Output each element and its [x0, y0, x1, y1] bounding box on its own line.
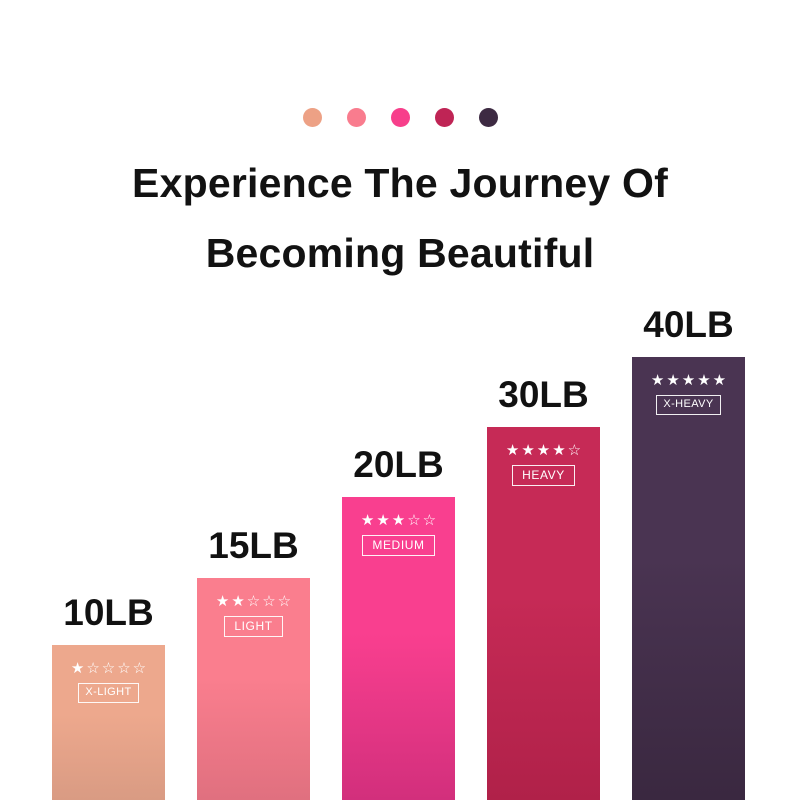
bar-10lb-group[interactable]: 10LB★☆☆☆☆X-LIGHT: [52, 645, 165, 800]
bar-10lb-bar[interactable]: ★☆☆☆☆X-LIGHT: [52, 645, 165, 800]
bar-10lb-content: ★☆☆☆☆X-LIGHT: [52, 661, 165, 703]
star-filled-icon: ★: [506, 443, 519, 458]
bar-15lb-bar[interactable]: ★★☆☆☆LIGHT: [197, 578, 310, 800]
bar-10lb-star-rating: ★☆☆☆☆: [71, 661, 146, 676]
bar-15lb-level-badge: LIGHT: [224, 616, 282, 637]
star-filled-icon: ★: [552, 443, 565, 458]
bar-30lb-content: ★★★★☆HEAVY: [487, 443, 600, 486]
bar-40lb-bar[interactable]: ★★★★★X-HEAVY: [632, 357, 745, 800]
star-empty-icon: ☆: [423, 513, 436, 528]
star-empty-icon: ☆: [133, 661, 146, 676]
star-filled-icon: ★: [682, 373, 695, 388]
bar-40lb-content: ★★★★★X-HEAVY: [632, 373, 745, 415]
bar-10lb-weight-label: 10LB: [63, 594, 153, 645]
star-filled-icon: ★: [392, 513, 405, 528]
product-infographic: Experience The Journey Of Becoming Beaut…: [0, 0, 800, 800]
bar-20lb-level-badge: MEDIUM: [362, 535, 434, 556]
resistance-bar-chart: 10LB★☆☆☆☆X-LIGHT15LB★★☆☆☆LIGHT20LB★★★☆☆M…: [0, 0, 800, 800]
bar-15lb-star-rating: ★★☆☆☆: [216, 594, 291, 609]
bar-40lb-star-rating: ★★★★★: [651, 373, 726, 388]
star-empty-icon: ☆: [247, 594, 260, 609]
star-filled-icon: ★: [231, 594, 244, 609]
bar-30lb-level-badge: HEAVY: [512, 465, 575, 486]
star-filled-icon: ★: [361, 513, 374, 528]
bar-30lb-bar[interactable]: ★★★★☆HEAVY: [487, 427, 600, 800]
star-filled-icon: ★: [537, 443, 550, 458]
star-filled-icon: ★: [376, 513, 389, 528]
star-filled-icon: ★: [651, 373, 664, 388]
bar-30lb-star-rating: ★★★★☆: [506, 443, 581, 458]
bar-40lb-group[interactable]: 40LB★★★★★X-HEAVY: [632, 357, 745, 800]
bar-40lb-level-badge: X-HEAVY: [656, 395, 720, 415]
star-filled-icon: ★: [71, 661, 84, 676]
star-empty-icon: ☆: [568, 443, 581, 458]
bar-30lb-group[interactable]: 30LB★★★★☆HEAVY: [487, 427, 600, 800]
star-empty-icon: ☆: [86, 661, 99, 676]
star-filled-icon: ★: [666, 373, 679, 388]
star-filled-icon: ★: [216, 594, 229, 609]
star-filled-icon: ★: [697, 373, 710, 388]
star-empty-icon: ☆: [278, 594, 291, 609]
star-empty-icon: ☆: [262, 594, 275, 609]
bar-20lb-weight-label: 20LB: [353, 446, 443, 497]
bar-20lb-group[interactable]: 20LB★★★☆☆MEDIUM: [342, 497, 455, 800]
bar-40lb-weight-label: 40LB: [643, 306, 733, 357]
bar-20lb-star-rating: ★★★☆☆: [361, 513, 436, 528]
star-empty-icon: ☆: [407, 513, 420, 528]
bar-15lb-weight-label: 15LB: [208, 527, 298, 578]
bar-15lb-group[interactable]: 15LB★★☆☆☆LIGHT: [197, 578, 310, 800]
bar-30lb-weight-label: 30LB: [498, 376, 588, 427]
star-empty-icon: ☆: [102, 661, 115, 676]
star-filled-icon: ★: [521, 443, 534, 458]
star-filled-icon: ★: [713, 373, 726, 388]
star-empty-icon: ☆: [117, 661, 130, 676]
bar-15lb-content: ★★☆☆☆LIGHT: [197, 594, 310, 637]
bar-20lb-bar[interactable]: ★★★☆☆MEDIUM: [342, 497, 455, 800]
bar-20lb-content: ★★★☆☆MEDIUM: [342, 513, 455, 556]
bar-10lb-level-badge: X-LIGHT: [78, 683, 138, 703]
